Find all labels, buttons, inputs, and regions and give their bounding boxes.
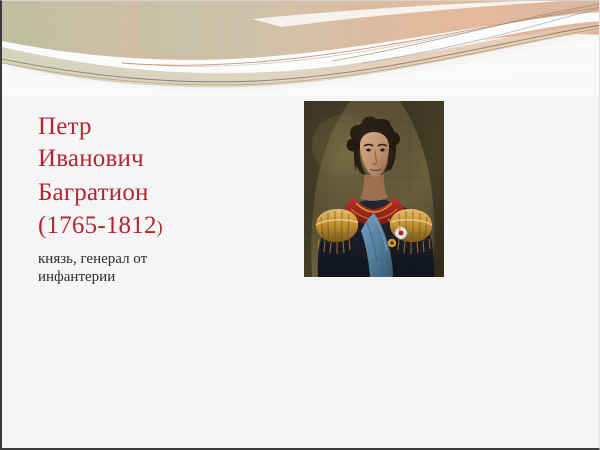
dates-close-paren: ) <box>157 217 163 237</box>
portrait-of-pyotr-bagration <box>304 101 444 277</box>
title-line-first-name: Петр <box>38 111 268 142</box>
presentation-slide: Петр Иванович Багратион (1765-1812) княз… <box>0 0 600 450</box>
dates-open-text: (1765-1812 <box>38 212 157 239</box>
decorative-ribbon-band <box>2 1 600 97</box>
title-line-dates: (1765-1812) <box>38 210 268 243</box>
title-line-surname: Багратион <box>38 176 268 210</box>
title-line-patronymic: Иванович <box>38 142 268 176</box>
subtitle-rank: князь, генерал от инфантерии <box>38 250 198 286</box>
slide-text-block: Петр Иванович Багратион (1765-1812) княз… <box>38 111 268 286</box>
